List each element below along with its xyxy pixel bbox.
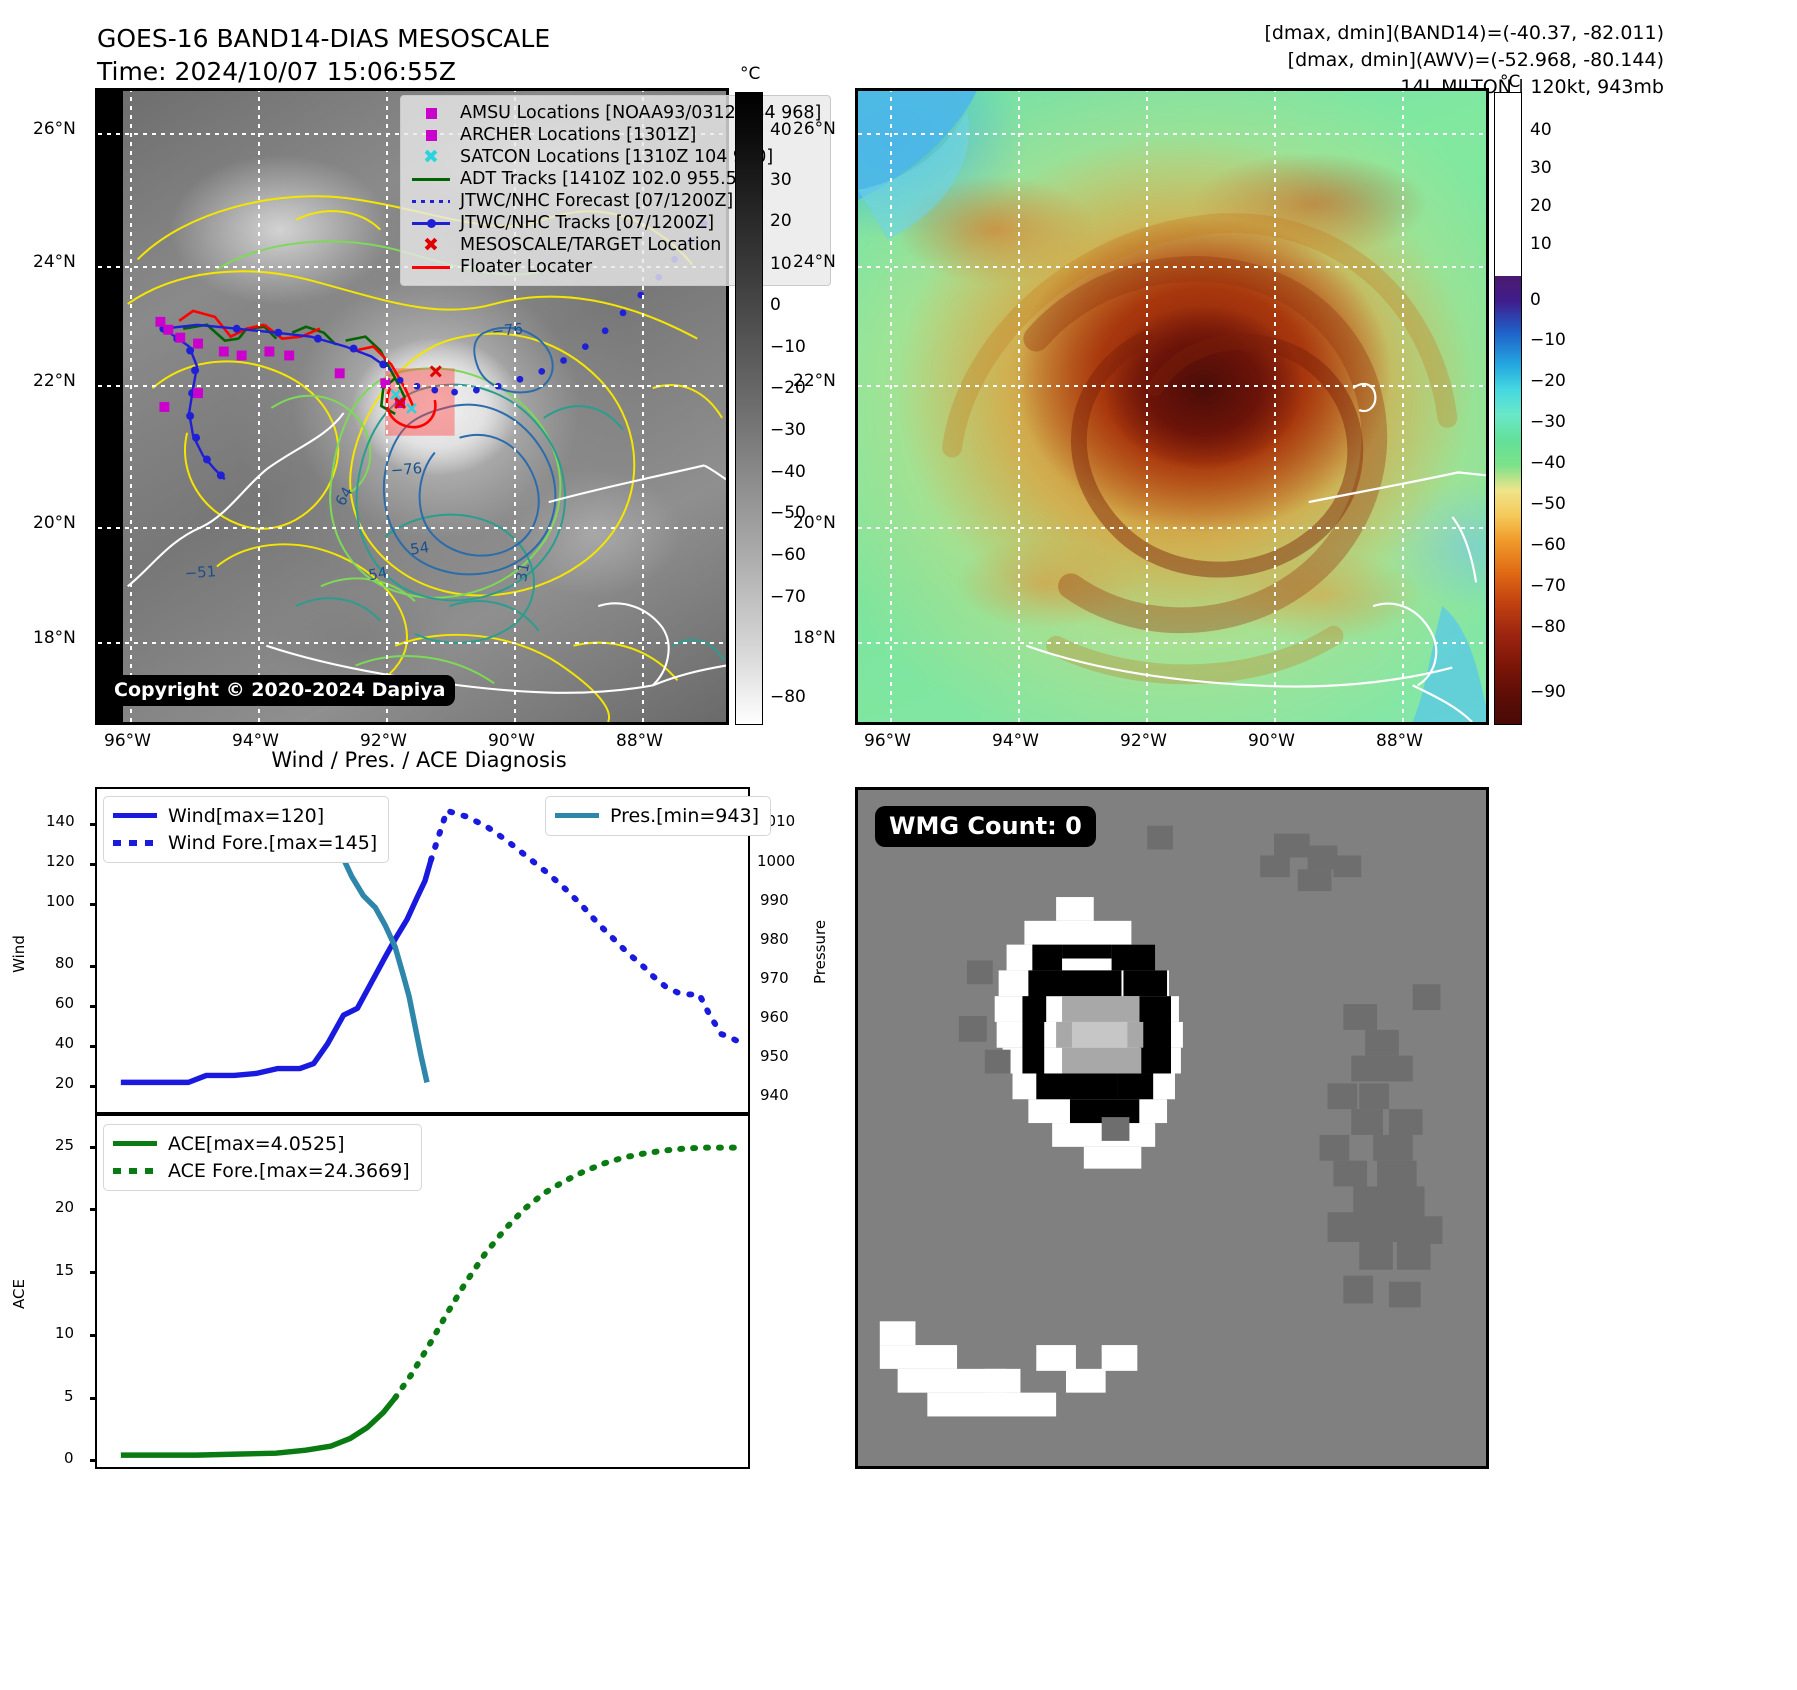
wind-ytick-20: 20 <box>55 1074 74 1092</box>
wv-colorbar-unit: °C <box>1500 72 1520 92</box>
legend-label: ADT Tracks [1410Z 102.0 955.5] <box>460 169 744 189</box>
ace-ytick <box>90 1208 97 1211</box>
legend-label: Wind Fore.[max=145] <box>168 832 377 854</box>
svg-text:−76: −76 <box>491 319 524 340</box>
legend-label: ACE Fore.[max=24.3669] <box>168 1160 410 1182</box>
wv-cb-tick-m10: −10 <box>1530 330 1566 350</box>
wind-ytick-140: 140 <box>46 812 75 830</box>
ir-cb-tick-30: 30 <box>770 170 792 190</box>
gridline-lat <box>858 133 1486 135</box>
ace-ytick <box>90 1397 97 1400</box>
wind-legend[interactable]: Wind[max=120] Wind Fore.[max=145] <box>103 796 389 863</box>
solid-line-icon <box>113 813 159 818</box>
wind-ytick-100: 100 <box>46 892 75 910</box>
wv-overlay <box>858 91 1486 722</box>
wv-cb-tick-30: 30 <box>1530 158 1552 178</box>
wv-xtick-96W: 96°W <box>864 731 911 751</box>
legend-item-ace-forecast[interactable]: ACE Fore.[max=24.3669] <box>113 1157 410 1184</box>
wv-xtick-94W: 94°W <box>992 731 1039 751</box>
dotted-line-icon <box>410 200 452 203</box>
wind-ytick <box>90 863 97 866</box>
top-left-panel-title: GOES-16 BAND14-DIAS MESOSCALE Time: 2024… <box>97 22 550 88</box>
wv-cb-tick-m80: −80 <box>1530 617 1566 637</box>
ir-cb-tick-20: 20 <box>770 211 792 231</box>
svg-text:−76: −76 <box>390 459 423 479</box>
series-ace <box>121 1398 395 1455</box>
gridline-lat <box>858 642 1486 644</box>
pres-ytick-990: 990 <box>760 891 789 909</box>
wv-cb-tick-m90: −90 <box>1530 682 1566 702</box>
pres-ytick-940: 940 <box>760 1086 789 1104</box>
wind-ytick <box>90 1005 97 1008</box>
wv-ytick-20N: 20°N <box>793 513 836 533</box>
legend-item-ace[interactable]: ACE[max=4.0525] <box>113 1130 410 1157</box>
wv-cb-tick-m20: −20 <box>1530 371 1566 391</box>
ace-ytick-10: 10 <box>55 1324 74 1342</box>
legend-label: AMSU Locations [NOAA93/0312Z 84 968] <box>460 103 821 123</box>
diagnosis-chart-title: Wind / Pres. / ACE Diagnosis <box>0 748 838 772</box>
gridline-lon <box>130 91 132 722</box>
ir-ytick-18N: 18°N <box>33 628 76 648</box>
ir-cb-tick-0: 0 <box>770 295 781 315</box>
series-wind-forecast <box>431 811 739 1042</box>
x-marker-icon: ✖ <box>410 152 452 162</box>
ir-cb-tick-m40: −40 <box>770 462 806 482</box>
gridline-lon <box>1274 91 1276 722</box>
wv-ytick-26N: 26°N <box>793 119 836 139</box>
wv-cb-tick-10: 10 <box>1530 234 1552 254</box>
ir-cb-tick-m30: −30 <box>770 420 806 440</box>
gridline-lat <box>858 385 1486 387</box>
legend-label: Wind[max=120] <box>168 805 324 827</box>
gridline-lon <box>1146 91 1148 722</box>
ir-colorbar[interactable] <box>735 92 763 725</box>
wv-xtick-88W: 88°W <box>1376 731 1423 751</box>
ir-cb-tick-40: 40 <box>770 120 792 140</box>
solid-line-icon <box>410 178 452 181</box>
ace-ytick <box>90 1271 97 1274</box>
wv-cb-tick-m30: −30 <box>1530 412 1566 432</box>
solid-line-icon <box>555 813 601 818</box>
ir-ytick-24N: 24°N <box>33 252 76 272</box>
gridline-lat <box>98 385 726 387</box>
pres-ytick-950: 950 <box>760 1047 789 1065</box>
legend-label: Pres.[min=943] <box>610 805 759 827</box>
ace-ytick-15: 15 <box>55 1261 74 1279</box>
legend-label: ACE[max=4.0525] <box>168 1133 345 1155</box>
legend-item-wind-forecast[interactable]: Wind Fore.[max=145] <box>113 829 377 856</box>
water-vapor-image-panel[interactable] <box>855 88 1489 725</box>
wv-cb-tick-m60: −60 <box>1530 535 1566 555</box>
wv-xtick-90W: 90°W <box>1248 731 1295 751</box>
wv-cb-tick-m70: −70 <box>1530 576 1566 596</box>
wind-ytick <box>90 965 97 968</box>
ace-legend[interactable]: ACE[max=4.0525] ACE Fore.[max=24.3669] <box>103 1124 422 1191</box>
pressure-legend[interactable]: Pres.[min=943] <box>545 796 771 836</box>
ir-cb-tick-m10: −10 <box>770 337 806 357</box>
ir-ytick-20N: 20°N <box>33 513 76 533</box>
wv-ytick-18N: 18°N <box>793 628 836 648</box>
wind-ytick-80: 80 <box>55 954 74 972</box>
header-line-2: [dmax, dmin](AWV)=(-52.968, -80.144) <box>1288 49 1664 71</box>
gridline-lat <box>858 266 1486 268</box>
wv-ytick-24N: 24°N <box>793 252 836 272</box>
wmg-count-badge: WMG Count: 0 <box>875 806 1096 847</box>
series-ace-forecast <box>395 1148 737 1398</box>
ace-ytick-0: 0 <box>64 1449 74 1467</box>
wind-ytick-120: 120 <box>46 852 75 870</box>
legend-item-pressure[interactable]: Pres.[min=943] <box>555 802 759 829</box>
ir-cb-tick-m70: −70 <box>770 587 806 607</box>
pres-ytick-960: 960 <box>760 1008 789 1026</box>
line-with-dot-icon <box>410 222 452 225</box>
ir-panel-legend[interactable]: AMSU Locations [NOAA93/0312Z 84 968] ARC… <box>400 95 831 286</box>
ace-ytick <box>90 1334 97 1337</box>
gridline-lat <box>858 527 1486 529</box>
wv-cb-tick-0: 0 <box>1530 290 1541 310</box>
wind-ytick-40: 40 <box>55 1034 74 1052</box>
legend-label: SATCON Locations [1310Z 104 960] <box>460 147 773 167</box>
wind-ytick <box>90 1045 97 1048</box>
wmg-blocks <box>858 790 1486 1466</box>
copyright-badge: Copyright © 2020-2024 Dapiya <box>106 675 455 706</box>
gridline-lon <box>258 91 260 722</box>
svg-text:54: 54 <box>409 538 430 558</box>
ir-ytick-26N: 26°N <box>33 119 76 139</box>
series-wind <box>121 860 431 1082</box>
svg-text:−51: −51 <box>184 562 217 582</box>
wind-ytick-60: 60 <box>55 994 74 1012</box>
ace-ytick-25: 25 <box>55 1136 74 1154</box>
wind-axis-label: Wind <box>10 934 28 974</box>
ir-ytick-22N: 22°N <box>33 371 76 391</box>
x-marker-icon: ✖ <box>410 240 452 250</box>
legend-label: ARCHER Locations [1301Z] <box>460 125 696 145</box>
wv-cb-tick-20: 20 <box>1530 196 1552 216</box>
wmg-panel[interactable]: WMG Count: 0 <box>855 787 1489 1469</box>
gridline-lat <box>98 642 726 644</box>
ace-ytick <box>90 1459 97 1462</box>
solid-line-icon <box>113 1141 159 1146</box>
gridline-lon <box>1018 91 1020 722</box>
wv-ytick-22N: 22°N <box>793 371 836 391</box>
square-marker-icon <box>410 108 452 119</box>
gridline-lon <box>386 91 388 722</box>
gridline-lon <box>890 91 892 722</box>
wv-cb-tick-m50: −50 <box>1530 494 1566 514</box>
wv-cb-tick-m40: −40 <box>1530 453 1566 473</box>
pres-ytick-1000: 1000 <box>757 852 795 870</box>
pres-ytick-970: 970 <box>760 969 789 987</box>
wind-ytick <box>90 823 97 826</box>
legend-label: Floater Locater <box>460 257 592 277</box>
wind-ytick <box>90 903 97 906</box>
legend-label: MESOSCALE/TARGET Location <box>460 235 721 255</box>
title-line-2: Time: 2024/10/07 15:06:55Z <box>97 57 456 86</box>
ace-axis-label: ACE <box>10 1274 28 1314</box>
ace-ytick-20: 20 <box>55 1198 74 1216</box>
wind-ytick <box>90 1085 97 1088</box>
wv-colorbar[interactable] <box>1494 92 1522 725</box>
gridline-lat <box>98 527 726 529</box>
pres-ytick-980: 980 <box>760 930 789 948</box>
ace-ytick <box>90 1146 97 1149</box>
legend-label: JTWC/NHC Forecast [07/1200Z] <box>460 191 733 211</box>
ir-colorbar-unit: °C <box>740 64 760 84</box>
header-line-1: [dmax, dmin](BAND14)=(-40.37, -82.011) <box>1264 22 1664 44</box>
pressure-axis-label: Pressure <box>811 924 829 984</box>
dotted-line-icon <box>113 1168 159 1174</box>
legend-item-wind[interactable]: Wind[max=120] <box>113 802 377 829</box>
solid-line-icon <box>410 266 452 269</box>
ir-cb-tick-m60: −60 <box>770 545 806 565</box>
title-line-1: GOES-16 BAND14-DIAS MESOSCALE <box>97 24 550 53</box>
square-marker-icon <box>410 130 452 141</box>
ir-cb-tick-m80: −80 <box>770 687 806 707</box>
wv-xtick-92W: 92°W <box>1120 731 1167 751</box>
ir-cb-tick-10: 10 <box>770 254 792 274</box>
wv-cb-tick-40: 40 <box>1530 120 1552 140</box>
ace-ytick-5: 5 <box>64 1387 74 1405</box>
legend-label: JTWC/NHC Tracks [07/1200Z] <box>460 213 714 233</box>
dotted-line-icon <box>113 840 159 846</box>
gridline-lon <box>1402 91 1404 722</box>
